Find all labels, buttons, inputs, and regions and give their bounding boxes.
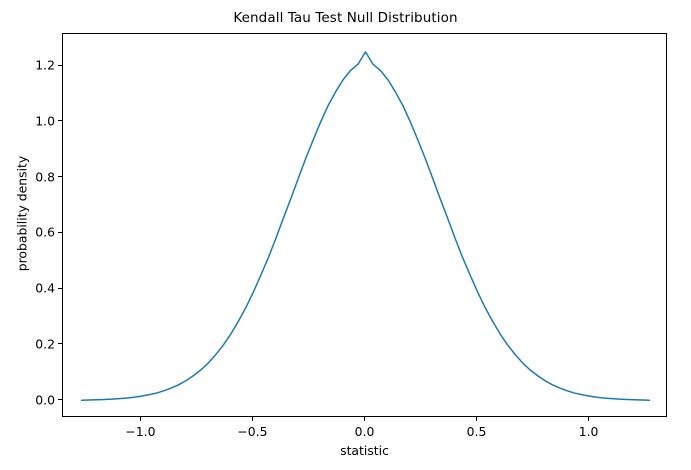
x-tick-mark xyxy=(252,417,253,421)
x-tick-label: 1.0 xyxy=(579,424,599,439)
y-tick-mark xyxy=(58,232,62,233)
y-tick-label: 0.2 xyxy=(14,336,55,351)
density-curve-svg xyxy=(63,34,668,418)
y-tick-mark xyxy=(58,176,62,177)
matplotlib-figure: Kendall Tau Test Null Distribution −1.0−… xyxy=(0,0,691,470)
y-tick-mark xyxy=(58,343,62,344)
y-tick-label: 0.0 xyxy=(14,392,55,407)
x-tick-label: 0.0 xyxy=(355,424,375,439)
page-title: Kendall Tau Test Null Distribution xyxy=(0,10,691,26)
x-tick-mark xyxy=(476,417,477,421)
x-axis-label: statistic xyxy=(62,443,667,458)
density-curve xyxy=(82,52,650,400)
y-axis-label: probability density xyxy=(15,134,30,294)
y-tick-mark xyxy=(58,399,62,400)
x-tick-label: 0.5 xyxy=(467,424,487,439)
x-tick-mark xyxy=(364,417,365,421)
x-tick-mark xyxy=(588,417,589,421)
y-tick-mark xyxy=(58,120,62,121)
plot-axes xyxy=(62,33,667,417)
y-tick-mark xyxy=(58,288,62,289)
y-tick-mark xyxy=(58,65,62,66)
x-tick-mark xyxy=(140,417,141,421)
y-tick-label: 1.2 xyxy=(14,58,55,73)
x-tick-label: −0.5 xyxy=(237,424,267,439)
y-tick-label: 1.0 xyxy=(14,113,55,128)
x-tick-label: −1.0 xyxy=(125,424,155,439)
